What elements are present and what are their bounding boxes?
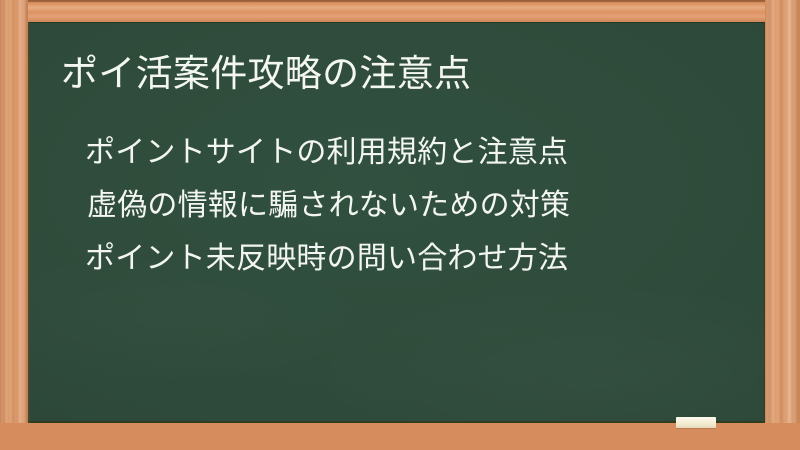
chalkboard-surface: ポイ活案件攻略の注意点 ポイントサイトの利用規約と注意点 虚偽の情報に騙されない… bbox=[28, 22, 765, 423]
list-item: 虚偽の情報に騙されないための対策 bbox=[85, 179, 570, 232]
slide-bullet-list: ポイントサイトの利用規約と注意点 虚偽の情報に騙されないための対策 ポイント未反… bbox=[85, 126, 570, 285]
frame-rail-right bbox=[765, 0, 800, 450]
frame-rail-top bbox=[0, 0, 800, 22]
frame-rail-left bbox=[0, 0, 28, 450]
slide-canvas: ポイ活案件攻略の注意点 ポイントサイトの利用規約と注意点 虚偽の情報に騙されない… bbox=[0, 0, 800, 450]
slide-title: ポイ活案件攻略の注意点 bbox=[61, 53, 471, 94]
list-item: ポイント未反映時の問い合わせ方法 bbox=[85, 232, 570, 285]
list-item: ポイントサイトの利用規約と注意点 bbox=[85, 126, 570, 179]
chalk-stick-icon bbox=[676, 417, 716, 428]
